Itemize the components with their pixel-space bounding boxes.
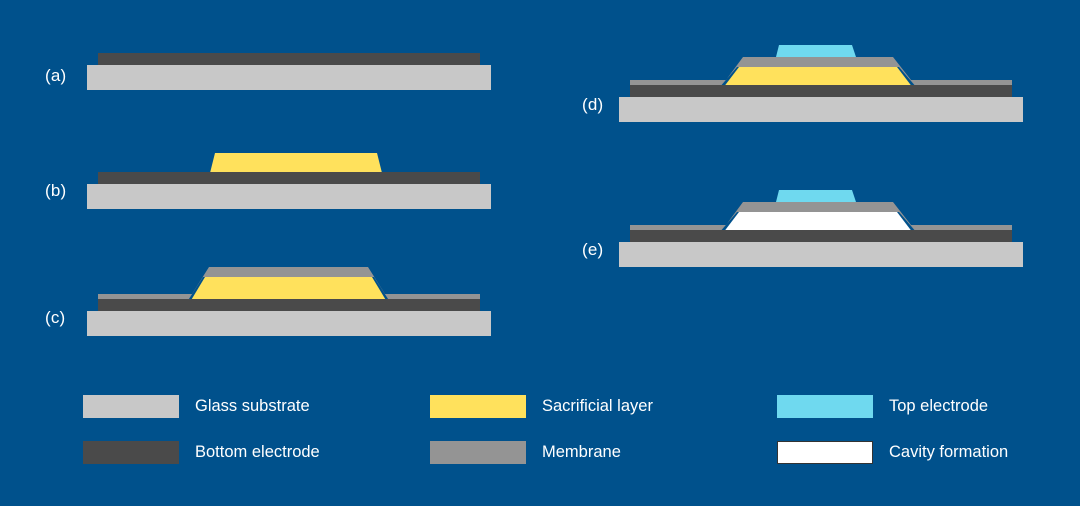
panel-e-bottom-electrode bbox=[630, 230, 1012, 242]
panel-e-cross-section bbox=[619, 190, 1023, 267]
legend-item-bottom-electrode: Bottom electrode bbox=[83, 440, 320, 464]
panel-e-glass-substrate bbox=[619, 242, 1023, 267]
legend-label-membrane: Membrane bbox=[542, 444, 621, 461]
panel-b-sacrificial-layer bbox=[210, 153, 382, 173]
panel-c-cross-section bbox=[87, 267, 491, 336]
legend-label-cavity-formation: Cavity formation bbox=[889, 444, 1008, 461]
panel-label-a: (a) bbox=[45, 67, 66, 84]
legend-label-bottom-electrode: Bottom electrode bbox=[195, 444, 320, 461]
panel-c-glass-substrate bbox=[87, 311, 491, 336]
panel-d-sacrificial-layer bbox=[723, 67, 913, 88]
legend-item-glass-substrate: Glass substrate bbox=[83, 394, 310, 418]
panel-d-bottom-electrode bbox=[630, 85, 1012, 97]
panel-d-cross-section bbox=[619, 45, 1023, 122]
legend-swatch-cavity-formation bbox=[777, 441, 873, 464]
legend-label-glass-substrate: Glass substrate bbox=[195, 398, 310, 415]
legend-item-sacrificial-layer: Sacrificial layer bbox=[430, 394, 653, 418]
panel-label-e: (e) bbox=[582, 241, 603, 258]
panel-b-bottom-electrode bbox=[98, 172, 480, 184]
panel-e-top-electrode bbox=[776, 190, 856, 202]
panel-label-c: (c) bbox=[45, 309, 65, 326]
legend-swatch-glass-substrate bbox=[83, 395, 179, 418]
legend-item-top-electrode: Top electrode bbox=[777, 394, 988, 418]
process-flow-diagram bbox=[0, 0, 1080, 506]
legend-swatch-membrane bbox=[430, 441, 526, 464]
panel-label-d: (d) bbox=[582, 96, 603, 113]
panel-b-glass-substrate bbox=[87, 184, 491, 209]
panel-c-bottom-electrode bbox=[98, 299, 480, 311]
panel-e-cavity-formation bbox=[723, 212, 913, 233]
legend-swatch-top-electrode bbox=[777, 395, 873, 418]
legend-swatch-sacrificial-layer bbox=[430, 395, 526, 418]
legend-label-sacrificial-layer: Sacrificial layer bbox=[542, 398, 653, 415]
panel-a-bottom-electrode bbox=[98, 53, 480, 65]
figure-canvas: (a) (b) (c) (d) (e) Glass substrate Bott… bbox=[0, 0, 1080, 506]
panel-d-top-electrode bbox=[776, 45, 856, 57]
panel-c-sacrificial-layer bbox=[190, 277, 387, 302]
legend-item-cavity-formation: Cavity formation bbox=[777, 440, 1008, 464]
panel-a-glass-substrate bbox=[87, 65, 491, 90]
panel-d-glass-substrate bbox=[619, 97, 1023, 122]
panel-b-cross-section bbox=[87, 153, 491, 209]
panel-label-b: (b) bbox=[45, 182, 66, 199]
panel-a-cross-section bbox=[87, 53, 491, 90]
legend-item-membrane: Membrane bbox=[430, 440, 621, 464]
legend-label-top-electrode: Top electrode bbox=[889, 398, 988, 415]
legend-swatch-bottom-electrode bbox=[83, 441, 179, 464]
